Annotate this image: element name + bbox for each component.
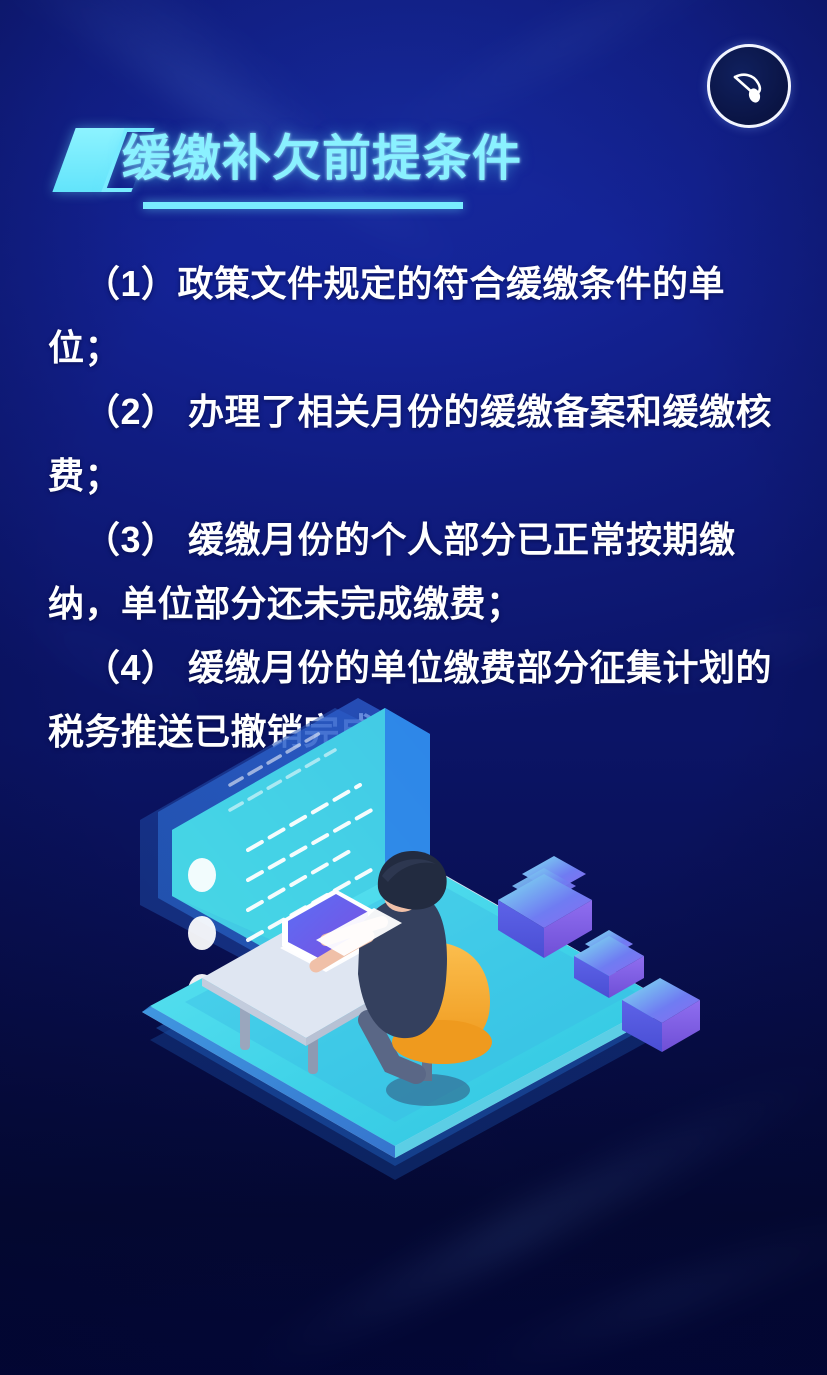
- bird-mark-icon: [723, 60, 775, 112]
- title-underline: [143, 202, 463, 209]
- poster-root: 缓缴补欠前提条件 （1）政策文件规定的符合缓缴条件的单位； （2） 办理了相关月…: [0, 0, 827, 1375]
- list-item: （1）政策文件规定的符合缓缴条件的单位；: [48, 252, 784, 380]
- list-item: （2） 办理了相关月份的缓缴备案和缓缴核费；: [48, 380, 784, 508]
- isometric-office-illustration: [130, 690, 700, 1250]
- brand-logo-icon[interactable]: [707, 44, 791, 128]
- page-title-block: 缓缴补欠前提条件: [58, 126, 778, 222]
- list-item: （3） 缓缴月份的个人部分已正常按期缴纳，单位部分还未完成缴费；: [48, 508, 784, 636]
- illustration-svg: [130, 690, 700, 1250]
- condition-list: （1）政策文件规定的符合缓缴条件的单位； （2） 办理了相关月份的缓缴备案和缓缴…: [48, 252, 784, 764]
- page-title: 缓缴补欠前提条件: [122, 124, 522, 194]
